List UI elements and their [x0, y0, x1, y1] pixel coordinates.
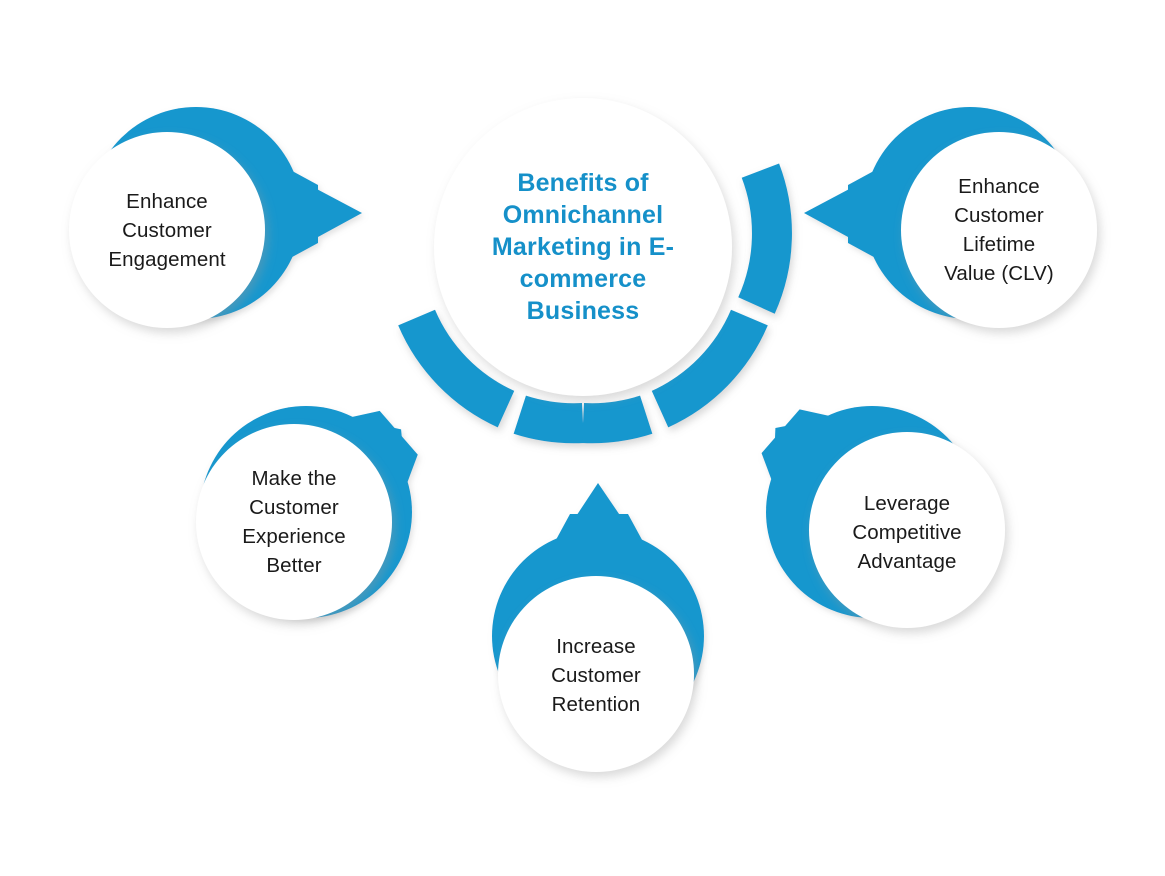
node-leverage-competitive-advantage[interactable]	[741, 387, 1005, 628]
node-enhance-customer-engagement[interactable]	[69, 107, 362, 328]
node-white-circle	[196, 424, 392, 620]
node-white-circle	[901, 132, 1097, 328]
node-increase-customer-retention[interactable]	[492, 483, 704, 772]
node-make-the-customer-experience-better[interactable]	[196, 389, 437, 620]
hub-ring-segment-3	[520, 415, 583, 424]
diagram-canvas	[0, 0, 1165, 876]
hub[interactable]	[417, 98, 772, 423]
benefits-diagram: Benefits of Omnichannel Marketing in E- …	[0, 0, 1165, 876]
node-white-circle	[809, 432, 1005, 628]
hub-white-circle	[434, 98, 732, 396]
hub-ring-segment-6	[757, 171, 772, 306]
node-white-circle	[69, 132, 265, 328]
hub-ring-segment-4	[583, 415, 646, 424]
node-white-circle	[498, 576, 694, 772]
node-enhance-customer-lifetime-value[interactable]	[804, 107, 1097, 328]
